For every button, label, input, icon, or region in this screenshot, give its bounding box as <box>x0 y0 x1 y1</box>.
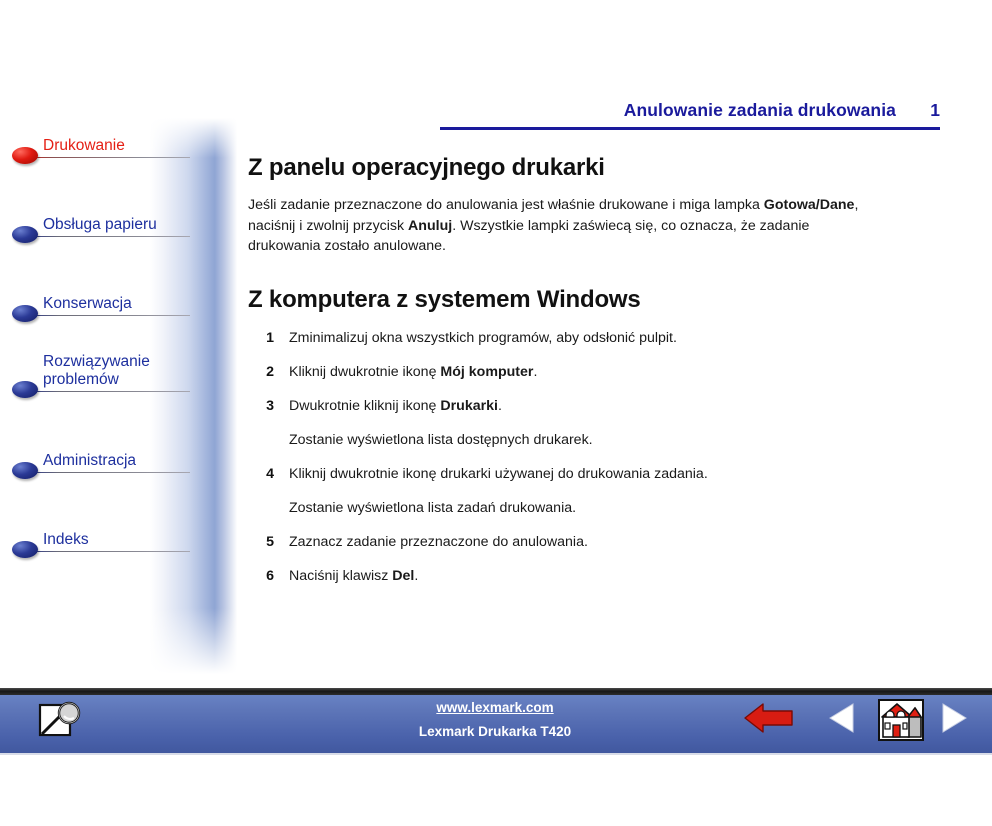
step-number: 4 <box>248 464 274 484</box>
step-text-bold: Mój komputer <box>440 364 533 380</box>
step-text: Zostanie wyświetlona lista dostępnych dr… <box>289 430 593 450</box>
document-page: Drukowanie Obsługa papieru Konserwacja R… <box>0 0 992 826</box>
step-number: 3 <box>248 396 274 416</box>
page-header: Anulowanie zadania drukowania 1 <box>440 100 940 130</box>
step-text-pre: Zostanie wyświetlona lista zadań drukowa… <box>289 500 576 516</box>
step-item: 4 Kliknij dwukrotnie ikonę drukarki używ… <box>248 464 908 484</box>
step-text-pre: Naciśnij klawisz <box>289 568 392 584</box>
footer-toolbar: www.lexmark.com Lexmark Drukarka T420 <box>0 688 992 826</box>
header-row: Anulowanie zadania drukowania 1 <box>440 100 940 121</box>
bullet-red-icon <box>12 147 38 164</box>
main-content: Z panelu operacyjnego drukarki Jeśli zad… <box>248 154 908 600</box>
step-item: 6 Naciśnij klawisz Del. <box>248 566 908 586</box>
paragraph-bold-gotowa-dane: Gotowa/Dane <box>764 197 855 213</box>
page-title: Anulowanie zadania drukowania <box>624 100 896 121</box>
sidebar-item-label: Drukowanie <box>43 137 125 155</box>
step-text-pre: Dwukrotnie kliknij ikonę <box>289 398 440 414</box>
step-item: 3 Dwukrotnie kliknij ikonę Drukarki. <box>248 396 908 416</box>
back-arrow-icon[interactable] <box>742 699 796 737</box>
footer-center-text: www.lexmark.com Lexmark Drukarka T420 <box>330 699 660 739</box>
sidebar-item-label: Indeks <box>43 531 89 549</box>
sidebar-item-rule <box>22 157 190 158</box>
step-text-pre: Zostanie wyświetlona lista dostępnych dr… <box>289 432 593 448</box>
header-divider <box>440 127 940 130</box>
step-text: Kliknij dwukrotnie ikonę Mój komputer. <box>289 362 537 382</box>
step-text: Naciśnij klawisz Del. <box>289 566 418 586</box>
step-item: 5 Zaznacz zadanie przeznaczone do anulow… <box>248 532 908 552</box>
footer-bottom-divider <box>0 753 992 755</box>
step-text-pre: Zminimalizuj okna wszystkich programów, … <box>289 330 677 346</box>
sidebar-item-indeks[interactable]: Indeks <box>0 521 200 555</box>
section-paragraph-panel: Jeśli zadanie przeznaczone do anulowania… <box>248 195 873 257</box>
sidebar-item-rule <box>22 551 190 552</box>
step-text-pre: Kliknij dwukrotnie ikonę <box>289 364 440 380</box>
product-name-label: Lexmark Drukarka T420 <box>330 724 660 739</box>
step-number: 2 <box>248 362 274 382</box>
bullet-blue-icon <box>12 462 38 479</box>
lexmark-website-link[interactable]: www.lexmark.com <box>436 700 553 715</box>
step-text-bold: Drukarki <box>440 398 498 414</box>
steps-list: 1 Zminimalizuj okna wszystkich programów… <box>248 328 908 586</box>
bullet-blue-icon <box>12 305 38 322</box>
sidebar-item-label: Rozwiązywanie problemów <box>43 353 193 389</box>
step-item: 1 Zminimalizuj okna wszystkich programów… <box>248 328 908 348</box>
sidebar-gradient-band <box>150 118 240 678</box>
sidebar-item-label: Obsługa papieru <box>43 216 157 234</box>
step-text-post: . <box>414 568 418 584</box>
sidebar-item-drukowanie[interactable]: Drukowanie <box>0 127 200 161</box>
step-text-post: . <box>498 398 502 414</box>
sidebar-item-rule <box>22 472 190 473</box>
sidebar-item-label: Konserwacja <box>43 295 132 313</box>
footer-top-divider <box>0 688 992 695</box>
bullet-blue-icon <box>12 541 38 558</box>
section-heading-panel: Z panelu operacyjnego drukarki <box>248 154 908 182</box>
step-text: Zaznacz zadanie przeznaczone do anulowan… <box>289 532 588 552</box>
step-result: Zostanie wyświetlona lista dostępnych dr… <box>248 430 908 450</box>
bullet-blue-icon <box>12 381 38 398</box>
sidebar-item-rozwiazywanie-problemow[interactable]: Rozwiązywanie problemów <box>0 343 200 395</box>
step-number: 5 <box>248 532 274 552</box>
sidebar-item-rule <box>22 391 190 392</box>
step-result: Zostanie wyświetlona lista zadań drukowa… <box>248 498 908 518</box>
step-text-post: . <box>533 364 537 380</box>
sidebar-item-rule <box>22 236 190 237</box>
step-number: 1 <box>248 328 274 348</box>
step-text-bold: Del <box>392 568 414 584</box>
step-number: 6 <box>248 566 274 586</box>
step-text: Kliknij dwukrotnie ikonę drukarki używan… <box>289 464 708 484</box>
step-item: 2 Kliknij dwukrotnie ikonę Mój komputer. <box>248 362 908 382</box>
sidebar-item-administracja[interactable]: Administracja <box>0 442 200 476</box>
step-text-pre: Kliknij dwukrotnie ikonę drukarki używan… <box>289 466 708 482</box>
step-text: Zostanie wyświetlona lista zadań drukowa… <box>289 498 576 518</box>
sidebar-item-label: Administracja <box>43 452 136 470</box>
search-page-icon[interactable] <box>38 701 82 741</box>
section-heading-windows: Z komputera z systemem Windows <box>248 286 908 314</box>
sidebar-item-konserwacja[interactable]: Konserwacja <box>0 285 200 319</box>
home-icon[interactable] <box>878 699 924 741</box>
next-page-icon[interactable] <box>938 699 970 737</box>
paragraph-part-1: Jeśli zadanie przeznaczone do anulowania… <box>248 197 764 213</box>
sidebar-item-rule <box>22 315 190 316</box>
bullet-blue-icon <box>12 226 38 243</box>
previous-page-icon[interactable] <box>826 699 858 737</box>
sidebar-navigation: Drukowanie Obsługa papieru Konserwacja R… <box>0 0 232 680</box>
page-number: 1 <box>926 100 940 121</box>
sidebar-item-obsluga-papieru[interactable]: Obsługa papieru <box>0 206 200 240</box>
paragraph-bold-anuluj: Anuluj <box>408 218 452 234</box>
step-text: Dwukrotnie kliknij ikonę Drukarki. <box>289 396 502 416</box>
step-text: Zminimalizuj okna wszystkich programów, … <box>289 328 677 348</box>
step-text-pre: Zaznacz zadanie przeznaczone do anulowan… <box>289 534 588 550</box>
